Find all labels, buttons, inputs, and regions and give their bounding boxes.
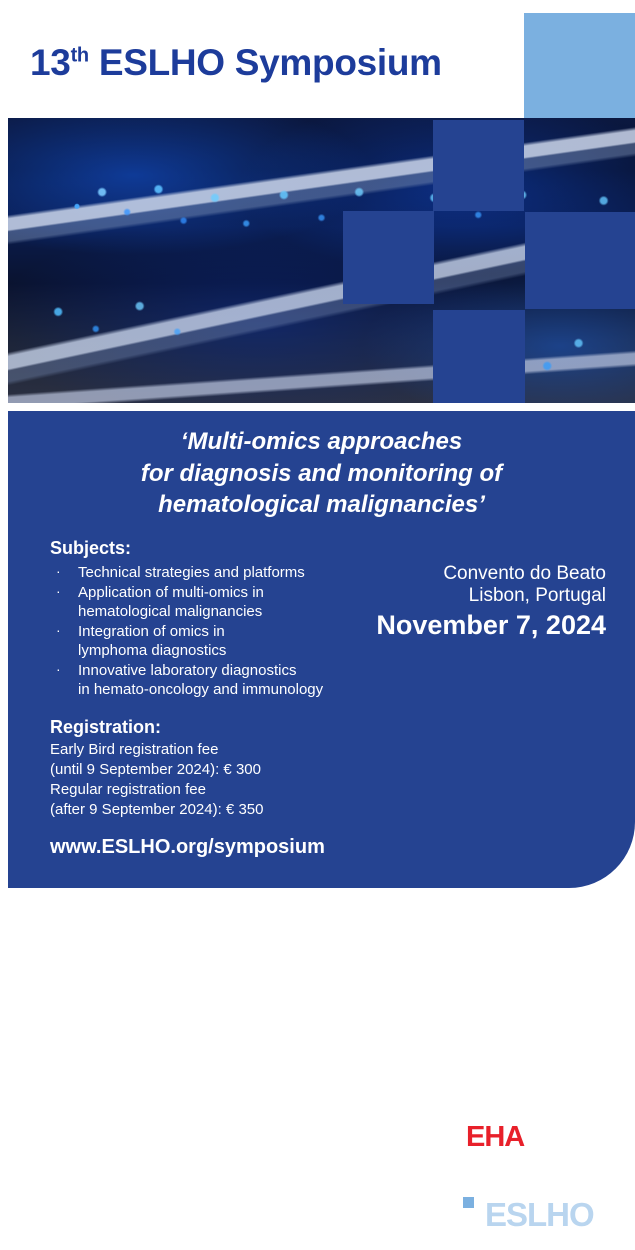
subject-text: Application of multi-omics in hematologi… bbox=[78, 583, 380, 621]
hero-image bbox=[8, 118, 635, 403]
hero-overlay-square-r1c2 bbox=[433, 120, 524, 211]
star-icon: ★ bbox=[450, 1123, 458, 1132]
title-ordinal-suffix: th bbox=[71, 45, 89, 67]
subject-line-1: Technical strategies and platforms bbox=[78, 564, 305, 581]
subject-text: Innovative laboratory diagnostics in hem… bbox=[78, 661, 380, 699]
eha-tagline: SPECIALIZED WORKING GROUPS bbox=[450, 1154, 635, 1165]
page-title: 13th ESLHO Symposium bbox=[30, 42, 442, 84]
bullet-icon: · bbox=[50, 563, 78, 581]
subjects-section: Subjects: · Technical strategies and pla… bbox=[50, 538, 380, 700]
bullet-icon: · bbox=[50, 661, 78, 679]
poster-subtitle: ‘Multi-omics approaches for diagnosis an… bbox=[8, 426, 635, 521]
registration-section: Registration: Early Bird registration fe… bbox=[50, 717, 263, 820]
subject-line-2: lymphoma diagnostics bbox=[78, 641, 380, 660]
poster-body-panel: ‘Multi-omics approaches for diagnosis an… bbox=[8, 411, 635, 888]
swg-wordmark: SWG bbox=[546, 1121, 614, 1154]
registration-line: Early Bird registration fee bbox=[50, 740, 263, 760]
eha-swg-divider bbox=[538, 1122, 541, 1150]
subjects-heading: Subjects: bbox=[50, 538, 380, 559]
subject-line-1: Integration of omics in bbox=[78, 623, 225, 640]
header-accent-square bbox=[524, 13, 635, 120]
hero-overlay-square-r3c2 bbox=[433, 310, 525, 403]
star-icon: ★ bbox=[443, 1142, 450, 1150]
venue-city: Lisbon, Portugal bbox=[376, 585, 606, 607]
eha-wordmark: EHA bbox=[466, 1121, 524, 1154]
eslho-wordmark: ESLHO bbox=[485, 1196, 594, 1234]
subject-line-2: hematological malignancies bbox=[78, 602, 380, 621]
star-icon: ★ bbox=[445, 1132, 451, 1139]
hero-overlay-square-r2c1 bbox=[343, 211, 434, 304]
subject-item: · Technical strategies and platforms bbox=[50, 563, 380, 582]
subject-text: Technical strategies and platforms bbox=[78, 563, 380, 582]
registration-heading: Registration: bbox=[50, 717, 263, 738]
subject-line-1: Application of multi-omics in bbox=[78, 584, 264, 601]
bullet-icon: · bbox=[50, 583, 78, 601]
eslho-tagline-line-2: for laboratory hemato oncology bbox=[492, 1240, 623, 1250]
subject-text: Integration of omics in lymphoma diagnos… bbox=[78, 622, 380, 660]
symposium-website-link[interactable]: www.ESLHO.org/symposium bbox=[50, 836, 325, 859]
subtitle-line-1: ‘Multi-omics approaches bbox=[8, 426, 635, 458]
registration-line: (after 9 September 2024): € 350 bbox=[50, 800, 263, 820]
registration-line: (until 9 September 2024): € 300 bbox=[50, 760, 263, 780]
registration-line: Regular registration fee bbox=[50, 780, 263, 800]
venue-date-section: Convento do Beato Lisbon, Portugal Novem… bbox=[376, 563, 606, 641]
subtitle-line-2: for diagnosis and monitoring of bbox=[8, 458, 635, 490]
subtitle-line-3: hematological malignancies’ bbox=[8, 489, 635, 521]
hero-overlay-square-r2c3 bbox=[525, 212, 635, 309]
title-rest: ESLHO Symposium bbox=[89, 42, 442, 83]
eslho-cross-icon bbox=[440, 1197, 480, 1235]
eha-swg-logo: ★ ★ ★ ★ ★ ★ ★ EHA SWG SPECIALIZED WORKIN… bbox=[439, 1113, 607, 1167]
subject-item: · Integration of omics in lymphoma diagn… bbox=[50, 622, 380, 660]
subject-line-1: Innovative laboratory diagnostics bbox=[78, 662, 296, 679]
poster-header: 13th ESLHO Symposium bbox=[0, 0, 635, 120]
eslho-logo: ESLHO european scientific foundation for… bbox=[440, 1197, 610, 1249]
event-date: November 7, 2024 bbox=[376, 611, 606, 641]
bullet-icon: · bbox=[50, 622, 78, 640]
title-number: 13 bbox=[30, 42, 71, 83]
subject-item: · Innovative laboratory diagnostics in h… bbox=[50, 661, 380, 699]
subject-line-2: in hemato-oncology and immunology bbox=[78, 680, 380, 699]
venue-name: Convento do Beato bbox=[376, 563, 606, 585]
subject-item: · Application of multi-omics in hematolo… bbox=[50, 583, 380, 621]
